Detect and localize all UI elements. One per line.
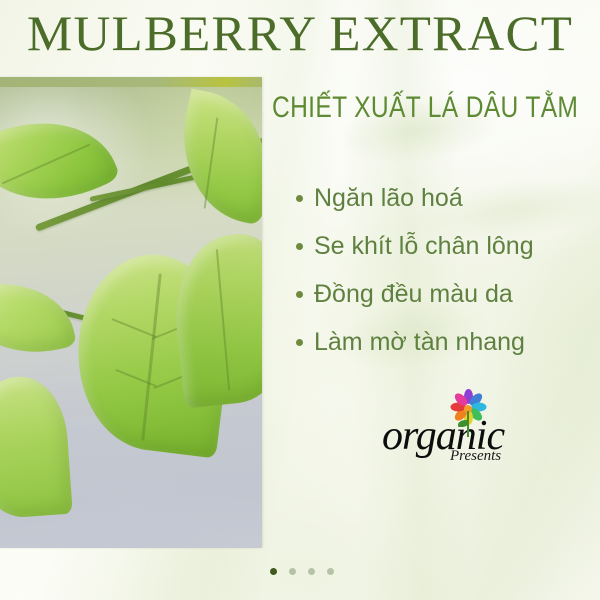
page-title: MULBERRY EXTRACT xyxy=(2,5,598,61)
list-item: Đồng đều màu da xyxy=(290,276,600,324)
slide-canvas: MULBERRY EXTRACT CHIẾT XUẤT LÁ DÂU TẰM N… xyxy=(0,0,600,600)
mulberry-leaves-photo xyxy=(0,77,262,548)
photo-accent-bar xyxy=(0,77,262,87)
pagination-dots[interactable] xyxy=(270,568,334,575)
bullet-dot-icon xyxy=(296,339,303,346)
list-item-label: Ngăn lão hoá xyxy=(314,184,463,212)
brand-logo: organic Presents xyxy=(382,392,522,472)
list-item-label: Làm mờ tàn nhang xyxy=(314,328,525,356)
pagination-dot-4[interactable] xyxy=(327,568,334,575)
list-item: Se khít lỗ chân lông xyxy=(290,228,600,276)
bullet-dot-icon xyxy=(296,195,303,202)
list-item: Làm mờ tàn nhang xyxy=(290,324,600,372)
page-subtitle: CHIẾT XUẤT LÁ DÂU TẰM xyxy=(272,91,536,125)
list-item-label: Đồng đều màu da xyxy=(314,280,513,308)
bullet-dot-icon xyxy=(296,243,303,250)
pagination-dot-1[interactable] xyxy=(270,568,277,575)
pagination-dot-2[interactable] xyxy=(289,568,296,575)
pagination-dot-3[interactable] xyxy=(308,568,315,575)
bullet-dot-icon xyxy=(296,291,303,298)
logo-tagline: Presents xyxy=(450,448,501,465)
rainbow-flower-icon xyxy=(446,390,490,438)
benefits-list: Ngăn lão hoá Se khít lỗ chân lông Đồng đ… xyxy=(290,180,600,372)
list-item: Ngăn lão hoá xyxy=(290,180,600,228)
list-item-label: Se khít lỗ chân lông xyxy=(314,232,534,260)
